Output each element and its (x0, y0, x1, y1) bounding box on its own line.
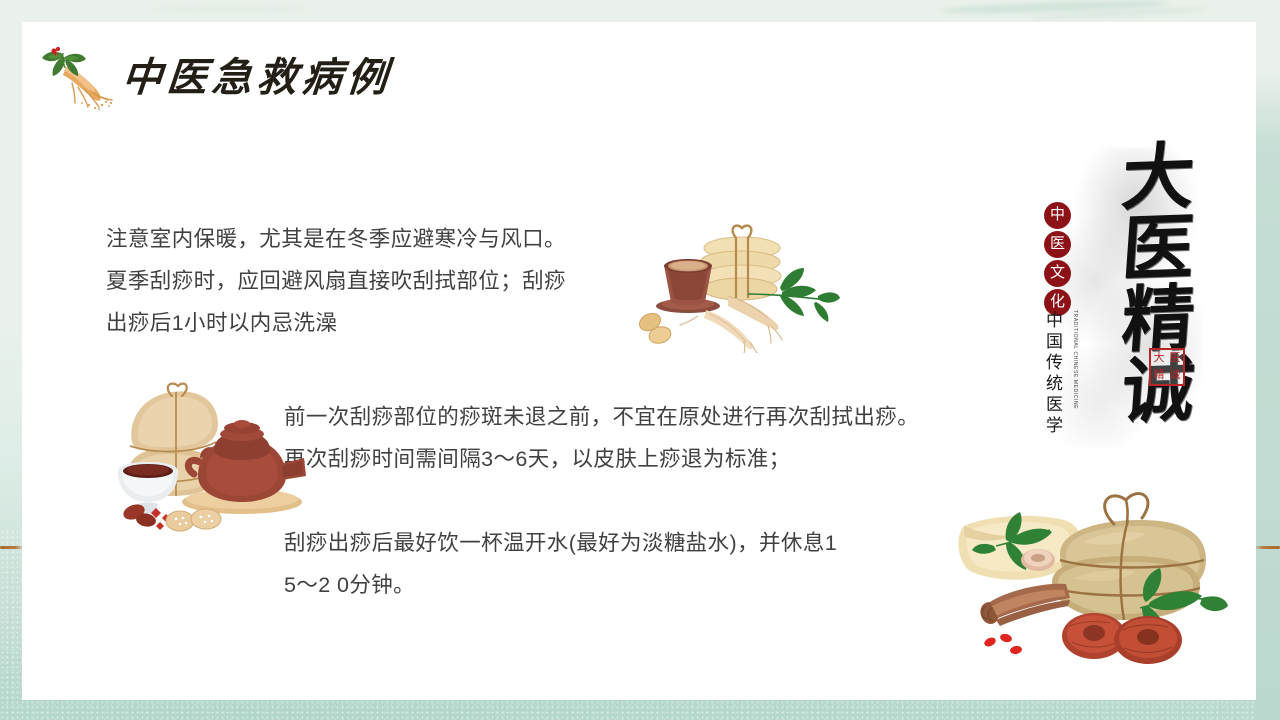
content-card: 中医急救病例 注意室内保暖，尤其是在冬季应避寒冷与风口。 夏季刮痧时，应回避风扇… (22, 22, 1256, 700)
red-seal-stamp: 大 医 精 诚 (1149, 348, 1185, 386)
seal-char: 大 (1151, 350, 1167, 367)
clay-teapot-herb-bundle-bowl-illustration (114, 380, 314, 540)
calligraphy-artwork: 大 医 精 诚 中 医 文 化 中国传统医学 TRADITIONAL CHINE… (1022, 144, 1212, 464)
calligraphy-char: 大 (1119, 143, 1196, 215)
badge-circle: 医 (1044, 231, 1071, 258)
slide-header: 中医急救病例 (32, 42, 392, 114)
decorative-rule-right (1254, 546, 1280, 549)
decorative-rule-left (0, 546, 24, 549)
herb-packet-cinnamon-jujube-illustration (934, 484, 1230, 674)
slide-root: 中医急救病例 注意室内保暖，尤其是在冬季应避寒冷与风口。 夏季刮痧时，应回避风扇… (0, 0, 1280, 720)
badge-circle: 文 (1044, 260, 1071, 287)
teacup-herbal-cakes-ginseng-illustration (632, 218, 842, 353)
badge-circle: 中 (1044, 202, 1071, 229)
calligraphy-latin-caption: TRADITIONAL CHINESE MEDICINE (1072, 310, 1078, 409)
background-mint-band-right (1254, 70, 1280, 720)
tcm-culture-badges: 中 医 文 化 (1044, 202, 1071, 316)
seal-char: 诚 (1167, 367, 1183, 384)
paragraph-precaution-warmth: 注意室内保暖，尤其是在冬季应避寒冷与风口。 夏季刮痧时，应回避风扇直接吹刮拭部位… (106, 218, 666, 344)
background-brush-sweep (150, 6, 310, 12)
calligraphy-char: 精 (1119, 285, 1196, 357)
seal-char: 精 (1151, 367, 1167, 384)
paragraph-interval-between-sessions: 前一次刮痧部位的痧斑未退之前，不宜在原处进行再次刮拭出痧。 再次刮痧时间需间隔3… (284, 396, 1004, 480)
calligraphy-subtitle: 中国传统医学 (1046, 310, 1070, 436)
seal-char: 医 (1167, 350, 1183, 367)
ginseng-root-icon (32, 45, 118, 111)
paragraph-drink-water-and-rest: 刮痧出痧后最好饮一杯温开水(最好为淡糖盐水)，并休息1 5～2 0分钟。 (284, 522, 924, 606)
page-title: 中医急救病例 (120, 58, 393, 98)
calligraphy-char: 医 (1119, 214, 1196, 286)
